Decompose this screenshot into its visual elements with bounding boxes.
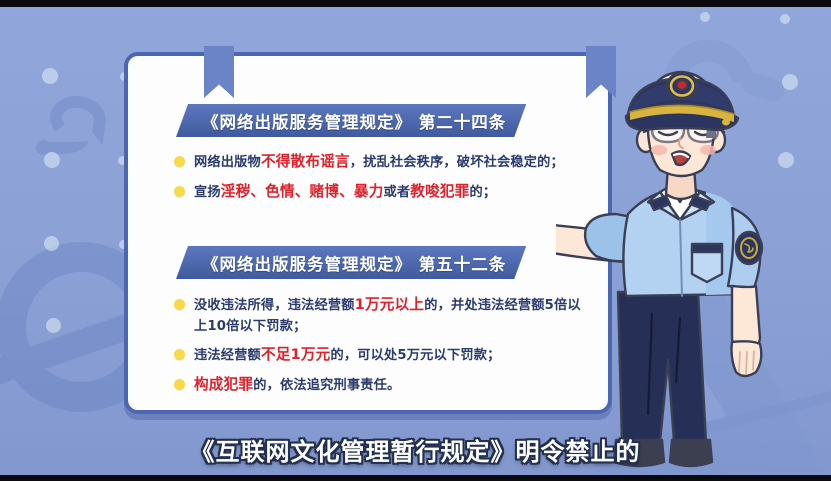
highlighted-phrase: 1万元以上 (355, 296, 425, 313)
decor-dot (700, 12, 710, 22)
letterbox-bottom (0, 475, 831, 481)
decor-dot (42, 68, 58, 84)
decor-dot (780, 14, 790, 24)
bullet-dot-icon (174, 379, 185, 390)
highlighted-phrase: 构成犯罪 (194, 376, 253, 393)
bullet-dot-icon (174, 349, 185, 360)
bullet-item: 构成犯罪的，依法追究刑事责任。 (174, 374, 592, 397)
content-card: 《网络出版服务管理规定》 第二十四条 网络出版物不得散布谣言，扰乱社会秩序，破坏… (124, 52, 612, 414)
bookmark-ribbon-icon (204, 46, 234, 98)
bullet-item: 没收违法所得，违法经营额1万元以上的，并处违法经营额5倍以上10倍以下罚款； (174, 294, 592, 337)
highlighted-phrase: 教唆犯罪 (410, 183, 469, 200)
section-banner-1: 《网络出版服务管理规定》 第二十四条 (176, 104, 526, 137)
bullet-item: 违法经营额不足1万元的，可以处5万元以下罚款； (174, 344, 592, 367)
video-frame: 《网络出版服务管理规定》 第二十四条 网络出版物不得散布谣言，扰乱社会秩序，破坏… (0, 0, 831, 481)
bullet-text: 宣扬淫秽、色情、赌博、暴力或者教唆犯罪的； (194, 181, 496, 204)
decor-dot (46, 318, 61, 333)
bullet-list-2: 没收违法所得，违法经营额1万元以上的，并处违法经营额5倍以上10倍以下罚款；违法… (174, 294, 592, 403)
bullet-text: 没收违法所得，违法经营额1万元以上的，并处违法经营额5倍以上10倍以下罚款； (194, 294, 592, 337)
law-enforcement-officer-illustration (556, 42, 806, 474)
section-banner-2: 《网络出版服务管理规定》 第五十二条 (176, 246, 526, 279)
plain-phrase: 或者 (384, 185, 411, 200)
bullet-item: 宣扬淫秽、色情、赌博、暴力或者教唆犯罪的； (174, 181, 592, 204)
plain-phrase: 网络出版物 (194, 155, 261, 170)
bullet-dot-icon (174, 156, 185, 167)
bullet-text: 违法经营额不足1万元的，可以处5万元以下罚款； (194, 344, 501, 367)
bullet-item: 网络出版物不得散布谣言，扰乱社会秩序，破坏社会稳定的； (174, 151, 592, 174)
plain-phrase: 的，可以处5万元以下罚款； (330, 348, 500, 363)
highlighted-phrase: 淫秽、色情、赌博、暴力 (221, 183, 384, 200)
bullet-dot-icon (174, 299, 185, 310)
highlighted-phrase: 不得散布谣言 (261, 153, 350, 170)
bullet-text: 网络出版物不得散布谣言，扰乱社会秩序，破坏社会稳定的； (194, 151, 564, 174)
subtitle-caption: 《互联网文化管理暂行规定》明令禁止的 (0, 432, 831, 467)
plain-phrase: ，扰乱社会秩序，破坏社会稳定的； (350, 155, 564, 170)
plain-phrase: 违法经营额 (194, 348, 261, 363)
plain-phrase: 的； (469, 185, 496, 200)
decor-dot (44, 236, 59, 251)
plain-phrase: 没收违法所得，违法经营额 (194, 298, 355, 313)
plain-phrase: 的，依法追究刑事责任。 (253, 378, 400, 393)
decor-dot (44, 152, 60, 168)
bullet-dot-icon (174, 186, 185, 197)
letterbox-top (0, 0, 831, 7)
bullet-list-1: 网络出版物不得散布谣言，扰乱社会秩序，破坏社会稳定的；宣扬淫秽、色情、赌博、暴力… (174, 151, 592, 210)
bullet-text: 构成犯罪的，依法追究刑事责任。 (194, 374, 400, 397)
highlighted-phrase: 不足1万元 (261, 346, 331, 363)
plain-phrase: 宣扬 (194, 185, 221, 200)
